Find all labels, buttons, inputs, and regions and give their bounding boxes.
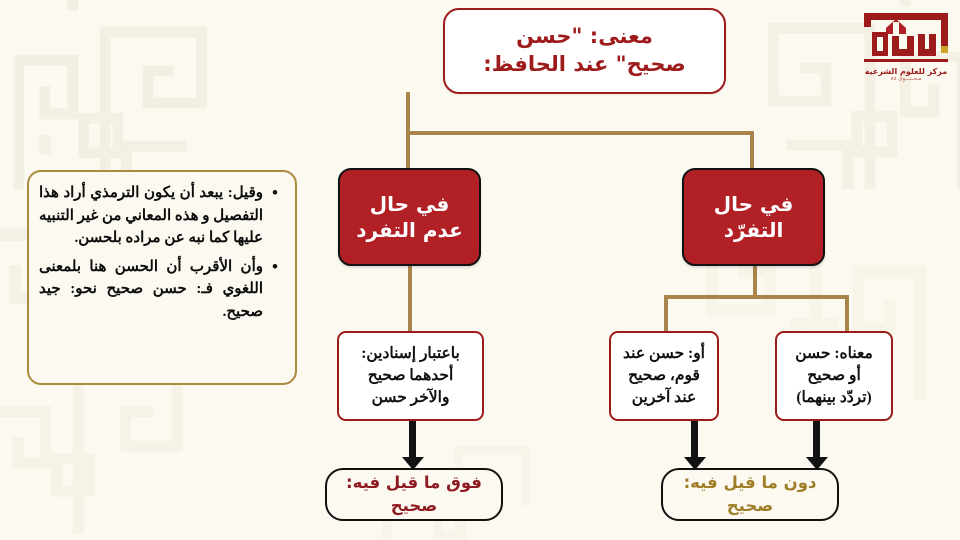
connector-to-left-branch — [406, 131, 410, 170]
connector-top-split-bar — [408, 131, 754, 135]
title-line-1: معنى: "حسن — [516, 23, 653, 51]
result-node-below[interactable]: دون ما قيل فيه: صحيح — [661, 468, 839, 521]
child-node-hasan-some-sahih-others[interactable]: أو: حسن عند قوم، صحيح عند آخرين — [609, 331, 719, 421]
side-note-box: وقيل: يبعد أن يكون الترمذي أراد هذا التف… — [27, 170, 297, 385]
branch-node-non-tafarrud[interactable]: في حال عدم التفرد — [338, 168, 481, 266]
result-below-line-1: دون ما قيل فيه: — [684, 472, 817, 495]
branch-node-tafarrud[interactable]: في حال التفرّد — [682, 168, 825, 266]
logo-subtitle-secondary: مـحـتـــوى ٨٨ — [858, 76, 954, 82]
connector-title-to-split — [406, 92, 410, 135]
connector-right-split-bar — [664, 295, 849, 299]
two-chains-line-3: والآخر حسن — [372, 387, 450, 409]
branch-non-tafarrud-line-2: عدم التفرد — [356, 217, 462, 243]
result-node-above[interactable]: فوق ما قيل فيه: صحيح — [325, 468, 503, 521]
hasan-or-sahih-line-1: معناه: حسن — [795, 343, 873, 365]
hasan-some-line-1: أو: حسن عند — [623, 343, 705, 365]
brand-logo: مركز للعلوم الشرعية مـحـتـــوى ٨٨ — [858, 10, 954, 92]
hasan-or-sahih-line-3: (تردّد بينهما) — [796, 387, 871, 409]
connector-to-right-branch — [750, 131, 754, 170]
hasan-some-line-3: عند آخرين — [632, 387, 697, 409]
result-above-line-2: صحيح — [391, 495, 437, 518]
title-line-2: صحيح" عند الحافظ: — [483, 51, 685, 79]
connector-to-child-hasan-some — [664, 295, 668, 332]
note-bullet-2: وأن الأقرب أن الحسن هنا بلمعنى اللغوي فـ… — [39, 256, 263, 324]
result-above-line-1: فوق ما قيل فيه: — [346, 472, 482, 495]
two-chains-line-1: باعتبار إسنادين: — [361, 343, 460, 365]
note-bullet-list: وقيل: يبعد أن يكون الترمذي أراد هذا التف… — [39, 182, 281, 323]
logo-subtitle: مركز للعلوم الشرعية — [858, 67, 954, 76]
diagram-canvas: مركز للعلوم الشرعية مـحـتـــوى ٨٨ معنى: … — [0, 0, 960, 540]
ihkam-logo-icon — [858, 10, 954, 66]
connector-left-branch-to-child — [408, 266, 412, 332]
connector-to-child-hasan-or-sahih — [845, 295, 849, 332]
hasan-some-line-2: قوم، صحيح — [628, 365, 700, 387]
note-bullet-1: وقيل: يبعد أن يكون الترمذي أراد هذا التف… — [39, 182, 263, 250]
branch-tafarrud-line-1: في حال — [714, 191, 794, 217]
two-chains-line-2: أحدهما صحيح — [368, 365, 454, 387]
branch-non-tafarrud-line-1: في حال — [370, 191, 450, 217]
hasan-or-sahih-line-2: أو صحيح — [807, 365, 861, 387]
diagram-title-box: معنى: "حسن صحيح" عند الحافظ: — [443, 8, 726, 94]
branch-tafarrud-line-2: التفرّد — [724, 217, 784, 243]
result-below-line-2: صحيح — [727, 495, 773, 518]
child-node-hasan-or-sahih[interactable]: معناه: حسن أو صحيح (تردّد بينهما) — [775, 331, 893, 421]
child-node-two-chains[interactable]: باعتبار إسنادين: أحدهما صحيح والآخر حسن — [337, 331, 484, 421]
